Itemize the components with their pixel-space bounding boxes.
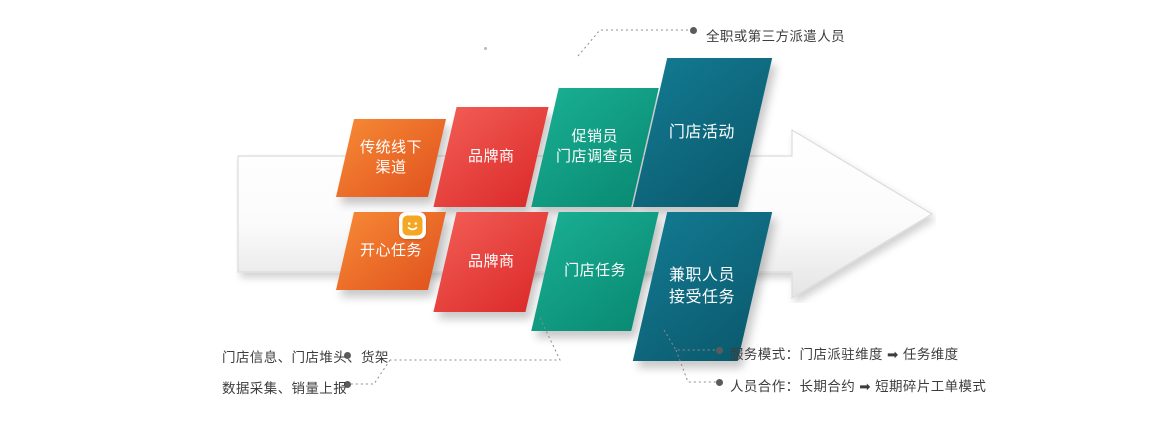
callout-top-right: 全职或第三方派遣人员 [706, 25, 845, 45]
callout-leader-lines [0, 0, 1150, 430]
callout-bottom-left-line2: 数据采集、销量上报 [222, 377, 347, 397]
callout-bottom-right-line1: 服务模式：门店派驻维度 ➡ 任务维度 [730, 343, 959, 363]
callout-dot-top [690, 27, 697, 34]
callout-dot-bottom-right-2 [716, 379, 723, 386]
callout-bottom-left-line1: 门店信息、门店堆头、货架 [222, 346, 389, 366]
callout-bottom-right-line2: 人员合作：长期合约 ➡ 短期碎片工单模式 [730, 375, 986, 395]
callout-dot-bottom-right-1 [716, 347, 723, 354]
diagram-canvas: 传统线下 渠道 品牌商 促销员 门店调查员 门店活动 开心任务 品牌商 门店任务… [0, 0, 1150, 430]
